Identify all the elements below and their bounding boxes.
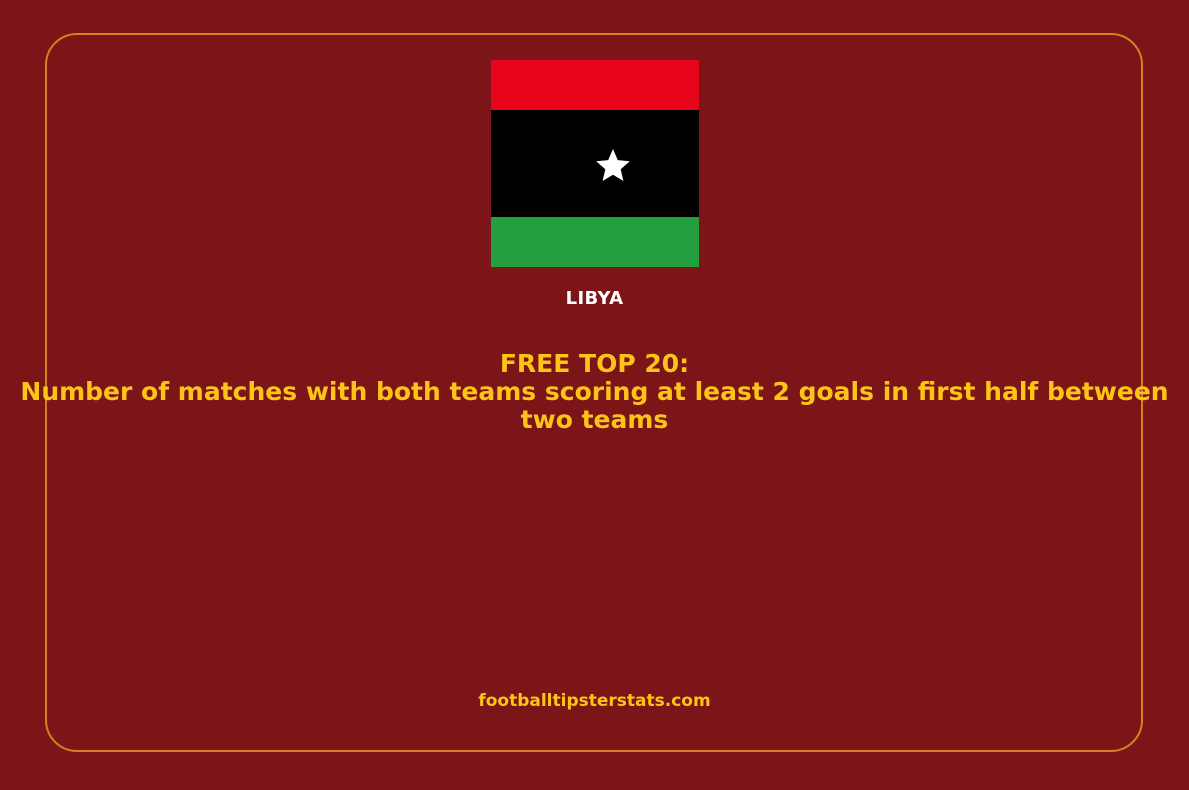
card-content: LIBYA FREE TOP 20: Number of matches wit… — [0, 0, 1189, 790]
libya-flag — [491, 60, 699, 267]
country-name: LIBYA — [0, 288, 1189, 309]
footer-site-name: footballtipsterstats.com — [0, 691, 1189, 711]
title-headline: Number of matches with both teams scorin… — [0, 378, 1189, 434]
flag-red-band — [491, 60, 699, 110]
title-kicker: FREE TOP 20: — [0, 350, 1189, 378]
flag-green-band — [491, 217, 699, 267]
flag-black-band — [491, 110, 699, 217]
title-block: FREE TOP 20: Number of matches with both… — [0, 350, 1189, 434]
flag-graphic — [491, 60, 699, 267]
